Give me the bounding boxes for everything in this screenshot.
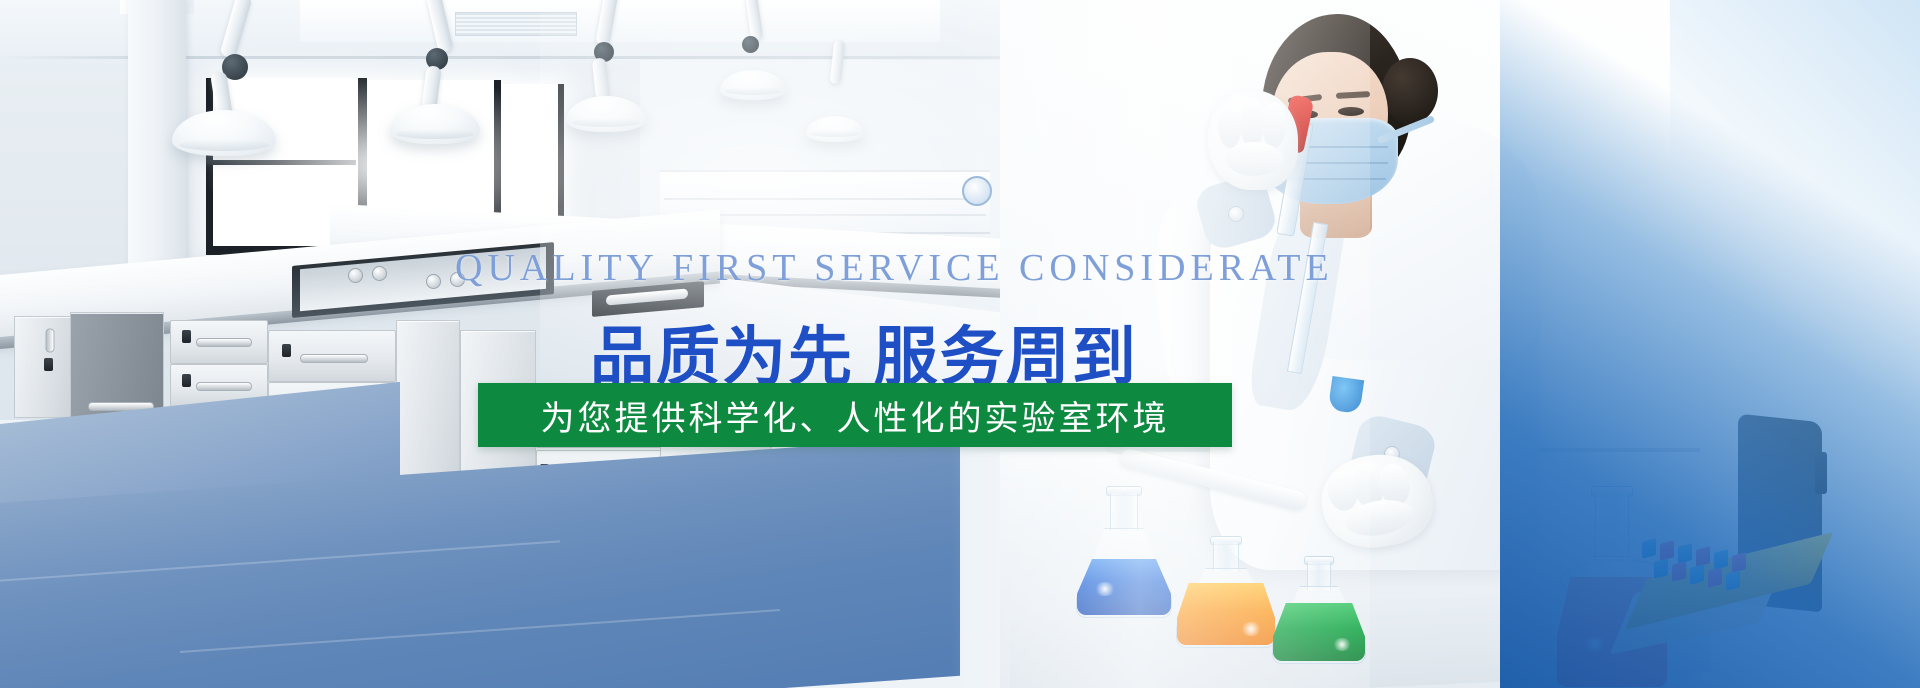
subtitle-text: 为您提供科学化、人性化的实验室环境 [541, 391, 1170, 440]
promo-banner: QUALITY FIRST SERVICE CONSIDERATE 品质为先 服… [0, 0, 1920, 688]
banner-copy: QUALITY FIRST SERVICE CONSIDERATE 品质为先 服… [0, 0, 1920, 688]
subtitle-bar: 为您提供科学化、人性化的实验室环境 [478, 383, 1232, 447]
english-tagline: QUALITY FIRST SERVICE CONSIDERATE [455, 246, 1334, 290]
